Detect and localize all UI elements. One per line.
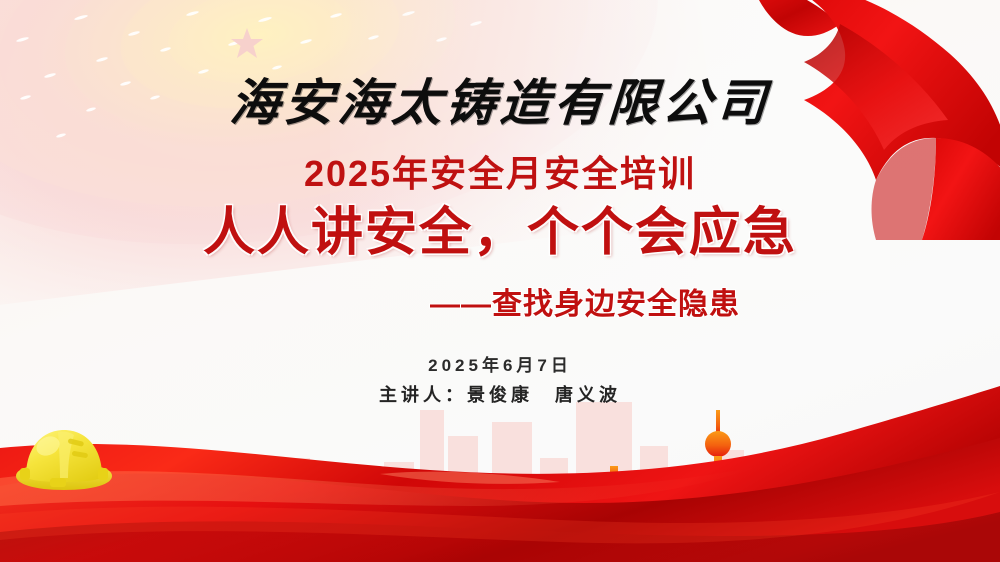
presentation-slide: 海安海太铸造有限公司 2025年安全月安全培训 人人讲安全，个个会应急 ——查找… bbox=[0, 0, 1000, 562]
main-slogan: 人人讲安全，个个会应急 bbox=[0, 207, 1000, 259]
presentation-date: 2025年6月7日 bbox=[0, 357, 1000, 374]
company-name: 海安海太铸造有限公司 bbox=[0, 78, 1000, 128]
tagline: ——查找身边安全隐患 bbox=[0, 290, 1000, 320]
slide-text-layer: 海安海太铸造有限公司 2025年安全月安全培训 人人讲安全，个个会应急 ——查找… bbox=[0, 0, 1000, 562]
presenter-line: 主讲人：景俊康 唐义波 bbox=[0, 386, 1000, 404]
training-subtitle: 2025年安全月安全培训 bbox=[0, 156, 1000, 192]
